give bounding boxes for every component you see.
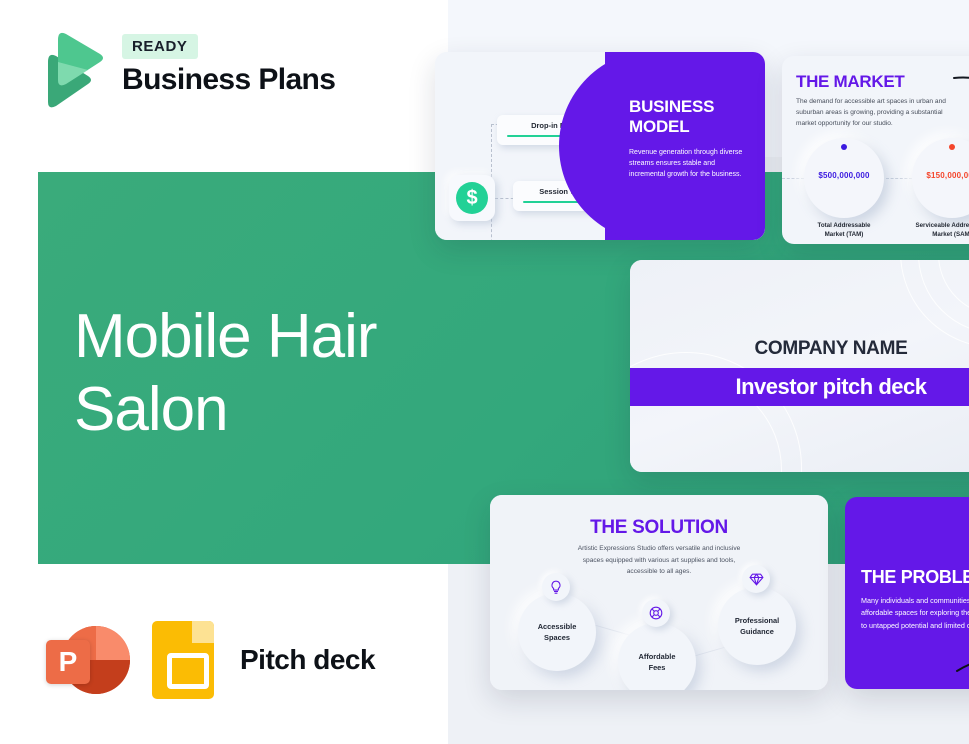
- play-triangle-logo-icon: [38, 32, 110, 110]
- brand-logo: READY Business Plans: [38, 32, 368, 114]
- metric-dot: [949, 144, 955, 150]
- powerpoint-icon: P: [40, 618, 128, 702]
- connector-line: [491, 124, 492, 182]
- solution-pillar[interactable]: Professional Guidance: [718, 587, 796, 665]
- powerpoint-letter: P: [46, 640, 90, 684]
- market-metric-caption: Serviceable Addressable Market (SAM): [904, 222, 969, 240]
- company-name: COMPANY NAME: [630, 338, 969, 360]
- pitch-deck-band: Investor pitch deck: [630, 368, 969, 406]
- solution-title: THE SOLUTION: [490, 517, 828, 539]
- pitch-deck-subtitle: Investor pitch deck: [630, 368, 969, 406]
- page-title-line2: Salon: [74, 373, 494, 446]
- business-model-panel: BUSINESS MODEL Revenue generation throug…: [605, 52, 765, 240]
- market-body: The demand for accessible art spaces in …: [796, 97, 948, 130]
- solution-pillar[interactable]: Accessible Spaces: [518, 593, 596, 671]
- market-metric: $500,000,000: [804, 138, 884, 218]
- format-row: P Pitch deck: [40, 618, 375, 702]
- solution-body: Artistic Expressions Studio offers versa…: [568, 543, 750, 578]
- lightbulb-icon: [542, 573, 570, 601]
- curved-arrow-icon: [955, 649, 969, 684]
- market-metric-value: $150,000,000: [912, 171, 969, 180]
- slide-solution[interactable]: THE SOLUTION Artistic Expressions Studio…: [490, 495, 828, 690]
- market-metric: $150,000,000: [912, 138, 969, 218]
- powerpoint-tile: P: [46, 640, 90, 684]
- slide-title-cover[interactable]: COMPANY NAME Investor pitch deck: [630, 260, 969, 472]
- market-metric-caption: Total Addressable Market (TAM): [796, 222, 892, 240]
- lifebuoy-icon: [642, 599, 670, 627]
- poster-canvas: READY Business Plans Mobile Hair Salon P…: [0, 0, 969, 744]
- brand-wordmark: READY Business Plans: [122, 34, 335, 96]
- slide-problem[interactable]: THE PROBLEM Many individuals and communi…: [845, 497, 969, 689]
- business-model-title: BUSINESS MODEL: [629, 97, 714, 137]
- curved-arrow-icon: [952, 72, 969, 119]
- page-title: Mobile Hair Salon: [74, 300, 494, 446]
- slide-business-model[interactable]: $ Drop-in Fees Session Workshops Commiss…: [435, 52, 765, 240]
- format-label: Pitch deck: [240, 644, 375, 676]
- market-title: THE MARKET: [796, 72, 904, 92]
- metric-dot: [841, 144, 847, 150]
- brand-name: Business Plans: [122, 63, 335, 96]
- business-model-body: Revenue generation through diverse strea…: [629, 148, 751, 181]
- market-metric-value: $500,000,000: [804, 171, 884, 180]
- problem-title: THE PROBLEM: [861, 567, 969, 588]
- problem-body: Many individuals and communities lack ac…: [861, 595, 969, 632]
- dollar-sign-icon: $: [449, 175, 495, 221]
- page-title-line1: Mobile Hair: [74, 300, 494, 373]
- slide-market[interactable]: THE MARKET The demand for accessible art…: [782, 56, 969, 244]
- diamond-icon: [742, 565, 770, 593]
- google-slides-icon: [152, 621, 214, 699]
- ready-badge: READY: [122, 34, 198, 59]
